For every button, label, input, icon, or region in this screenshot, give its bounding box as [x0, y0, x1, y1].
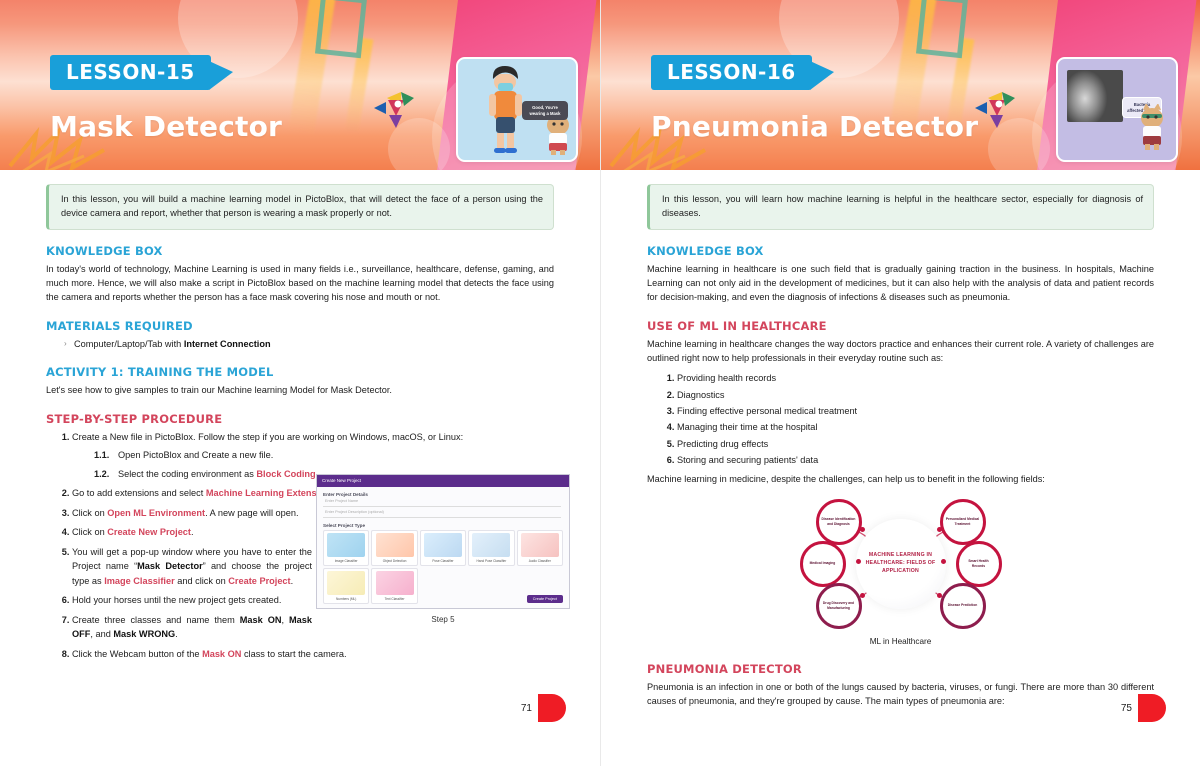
diagram-node-label: Medical Imaging: [807, 561, 839, 566]
project-type-option[interactable]: Object Detection: [371, 530, 417, 566]
step-4-highlight: Create New Project: [107, 527, 191, 537]
lesson-title-right: Pneumonia Detector: [651, 110, 978, 143]
knowledge-box-body-right: Machine learning in healthcare is one su…: [647, 262, 1154, 305]
list-item: Predicting drug effects: [677, 436, 1154, 452]
mask-detector-illustration: Good, You're wearing a Mask: [456, 57, 578, 162]
step-3-text: Click on: [72, 508, 107, 518]
thumb-numbers-ml: [327, 571, 365, 595]
banner-rect-outline: [315, 0, 367, 58]
diagram-node-label: Disease Identification and Diagnosis: [819, 517, 859, 527]
list-item: Click the Webcam button of the Mask ON c…: [72, 647, 554, 662]
heading-use-of-ml-in-healthcare: USE OF ML IN HEALTHCARE: [647, 319, 1154, 333]
diagram-node: Disease Prediction: [940, 583, 986, 629]
step-3-tail: . A new page will open.: [205, 508, 298, 518]
project-type-label: Image Classifier: [335, 559, 358, 563]
cat-robot-graphic: [1132, 104, 1172, 154]
ml-healthcare-diagram: MACHINE LEARNING IN HEALTHCARE: FIELDS O…: [794, 497, 1008, 633]
diagram-node: Drug Discovery and Manufacturing: [816, 583, 862, 629]
project-type-option[interactable]: Image Classifier: [323, 530, 369, 566]
thumb-object-detection: [376, 533, 414, 557]
knowledge-box-body-left: In today's world of technology, Machine …: [46, 262, 554, 305]
thumb-audio-classifier: [521, 533, 559, 557]
pneumonia-xray-illustration: Bacteria affected Lungs: [1056, 57, 1178, 162]
heading-activity-1: ACTIVITY 1: TRAINING THE MODEL: [46, 365, 554, 379]
list-item: You will get a pop-up window where you h…: [72, 545, 312, 589]
page-right: LESSON-16 Pneumonia Detector Bacteria af…: [600, 0, 1200, 766]
diagram-node-label: Drug Discovery and Manufacturing: [819, 601, 859, 611]
figure-window-title: Create New Project: [317, 475, 569, 487]
project-type-option[interactable]: Pose Classifier: [420, 530, 466, 566]
step-6-text: Hold your horses until the new project g…: [72, 595, 281, 605]
diagram-node: Disease Identification and Diagnosis: [816, 499, 862, 545]
mask-speech-bubble: Good, You're wearing a Mask: [522, 101, 568, 120]
page-body-left: In this lesson, you will build a machine…: [0, 170, 600, 766]
project-type-option[interactable]: Audio Classifier: [517, 530, 563, 566]
step-3-highlight: Open ML Environment: [107, 508, 205, 518]
pictoblox-tangram-logo-icon: [374, 88, 418, 132]
project-type-label: Object Detection: [383, 559, 407, 563]
substep-text: Open PictoBlox and Create a new file.: [118, 450, 273, 460]
figure-project-name-field[interactable]: Enter Project Name: [323, 499, 561, 507]
diagram-center-label: MACHINE LEARNING IN HEALTHCARE: FIELDS O…: [856, 519, 946, 609]
step-2-text: Go to add extensions and select: [72, 488, 206, 498]
lesson-banner-right: LESSON-16 Pneumonia Detector Bacteria af…: [601, 0, 1200, 170]
thumb-hand-pose-classifier: [472, 533, 510, 557]
lesson-tag-right: LESSON-16: [651, 55, 812, 90]
activity-1-body: Let's see how to give samples to train o…: [46, 383, 554, 397]
list-item: Diagnostics: [677, 387, 1154, 403]
list-item: 1.1. Open PictoBlox and Create a new fil…: [94, 448, 554, 463]
figure-section-label: Enter Project Details: [323, 492, 569, 497]
diagram-center-text: MACHINE LEARNING IN HEALTHCARE: FIELDS O…: [856, 552, 946, 575]
figure-caption-step-5: Step 5: [316, 615, 570, 624]
use-of-ml-list: Providing health records Diagnostics Fin…: [647, 370, 1154, 468]
list-item: Click on Open ML Environment. A new page…: [72, 506, 312, 521]
create-new-project-screenshot: Create New Project Enter Project Details…: [316, 474, 570, 609]
figure-step-5: Create New Project Enter Project Details…: [316, 474, 570, 624]
substep-highlight: Block Coding: [256, 469, 315, 479]
pictoblox-tangram-logo-icon: [975, 88, 1019, 132]
lesson-tag-left: LESSON-15: [50, 55, 211, 90]
page-marker-shape: [538, 694, 566, 722]
heading-knowledge-box-right: KNOWLEDGE BOX: [647, 244, 1154, 258]
diagram-node-label: Smart Health Records: [959, 559, 999, 569]
lesson-title-left: Mask Detector: [50, 110, 282, 143]
diagram-node-label: Disease Prediction: [945, 603, 981, 608]
diagram-node-label: Personalized Medical Treatment: [943, 517, 983, 527]
step-4-tail: .: [191, 527, 194, 537]
substep-number: 1.2.: [94, 467, 109, 482]
figure-project-desc-field[interactable]: Enter Project Description (optional): [323, 510, 561, 518]
page-body-right: In this lesson, you will learn how machi…: [601, 170, 1200, 766]
diagram-connector-dot: [937, 593, 942, 598]
banner-rect-outline: [916, 0, 968, 58]
diagram-node: Smart Health Records: [956, 541, 1002, 587]
project-type-option[interactable]: Hand Pose Classifier: [468, 530, 514, 566]
project-type-label: Hand Pose Classifier: [477, 559, 507, 563]
pneumonia-detector-body: Pneumonia is an infection in one or both…: [647, 680, 1154, 709]
list-item: Finding effective personal medical treat…: [677, 403, 1154, 419]
thumb-image-classifier: [327, 533, 365, 557]
lesson-intro-box-right: In this lesson, you will learn how machi…: [647, 184, 1154, 230]
diagram-connector-dot: [860, 527, 865, 532]
heading-step-by-step-procedure: STEP-BY-STEP PROCEDURE: [46, 412, 554, 426]
project-type-option[interactable]: Text Classifier: [371, 568, 417, 604]
page-footer-right: 75: [1121, 694, 1166, 722]
thumb-text-classifier: [376, 571, 414, 595]
list-item: Click on Create New Project.: [72, 525, 312, 540]
list-item: Computer/Laptop/Tab with Internet Connec…: [64, 337, 554, 352]
materials-list: Computer/Laptop/Tab with Internet Connec…: [46, 337, 554, 352]
lesson-intro-box-left: In this lesson, you will build a machine…: [46, 184, 554, 230]
heading-pneumonia-detector: PNEUMONIA DETECTOR: [647, 662, 1154, 676]
use-of-ml-closing: Machine learning in medicine, despite th…: [647, 472, 1154, 486]
page-left: LESSON-15 Mask Detector: [0, 0, 600, 766]
figure-ml-in-healthcare: MACHINE LEARNING IN HEALTHCARE: FIELDS O…: [794, 497, 1008, 646]
list-item: Providing health records: [677, 370, 1154, 386]
list-item: Storing and securing patients' data: [677, 452, 1154, 468]
diagram-connector-dot: [860, 593, 865, 598]
chest-xray-image: [1067, 70, 1123, 122]
diagram-node: Personalized Medical Treatment: [940, 499, 986, 545]
list-item: Create three classes and name them Mask …: [72, 613, 312, 642]
step-2-highlight: Machine Learning Extension: [206, 488, 331, 498]
lesson-tag-label-right: LESSON-16: [651, 55, 812, 90]
book-spread: LESSON-15 Mask Detector: [0, 0, 1200, 766]
diagram-connector-dot: [856, 559, 861, 564]
substep-text: Select the coding environment as: [118, 469, 256, 479]
list-item: Hold your horses until the new project g…: [72, 593, 312, 608]
page-number-right: 75: [1121, 703, 1132, 714]
step-1-text: Create a New file in PictoBlox. Follow t…: [72, 432, 463, 442]
page-marker-shape: [1138, 694, 1166, 722]
heading-materials-required: MATERIALS REQUIRED: [46, 319, 554, 333]
heading-knowledge-box-left: KNOWLEDGE BOX: [46, 244, 554, 258]
diagram-connector-dot: [941, 559, 946, 564]
lesson-tag-label-left: LESSON-15: [50, 55, 211, 90]
diagram-node: Medical Imaging: [800, 541, 846, 587]
project-type-label: Pose Classifier: [432, 559, 453, 563]
diagram-connector-dot: [937, 527, 942, 532]
figure-project-type-grid: Image Classifier Object Detection Pose C…: [323, 530, 563, 604]
page-footer-left: 71: [521, 694, 566, 722]
figure-create-project-button[interactable]: Create Project: [527, 595, 563, 603]
figure-type-label: Select Project Type: [323, 523, 569, 528]
list-item: Managing their time at the hospital: [677, 419, 1154, 435]
lesson-tag-arrow: [209, 61, 233, 90]
project-type-label: Numbers (ML): [336, 597, 356, 601]
step-4-text: Click on: [72, 527, 107, 537]
lesson-banner-left: LESSON-15 Mask Detector: [0, 0, 600, 170]
page-number-left: 71: [521, 703, 532, 714]
project-type-label: Audio Classifier: [529, 559, 551, 563]
substep-number: 1.1.: [94, 448, 109, 463]
project-type-option[interactable]: Numbers (ML): [323, 568, 369, 604]
project-type-label: Text Classifier: [385, 597, 405, 601]
lesson-tag-arrow: [810, 61, 834, 90]
thumb-pose-classifier: [424, 533, 462, 557]
diagram-caption: ML in Healthcare: [794, 637, 1008, 646]
use-of-ml-body: Machine learning in healthcare changes t…: [647, 337, 1154, 366]
